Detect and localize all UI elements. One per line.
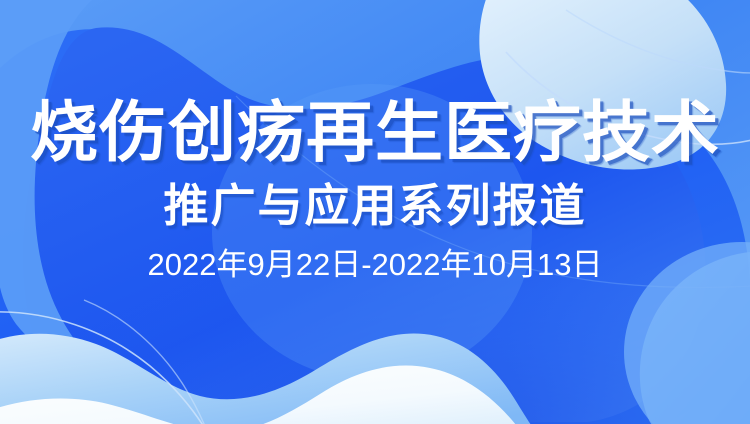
- promo-banner: 烧伤创疡再生医疗技术 推广与应用系列报道 2022年9月22日-2022年10月…: [0, 0, 750, 424]
- background-artwork: [0, 0, 750, 424]
- light-circle-center: [212, 84, 532, 380]
